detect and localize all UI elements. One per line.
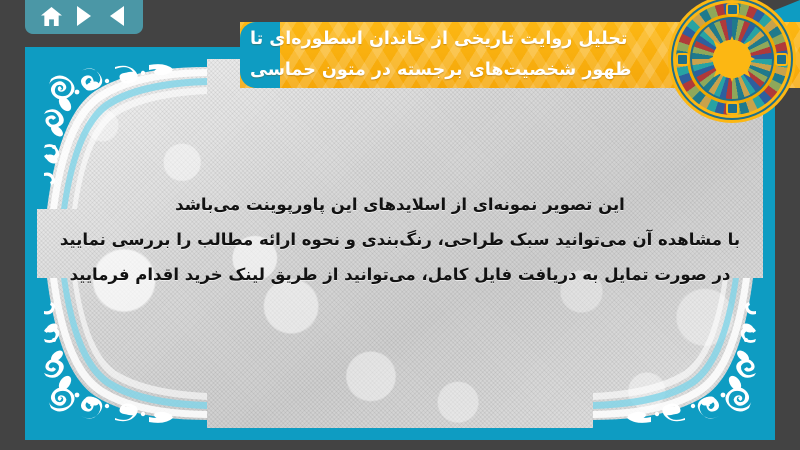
arrow-left-icon <box>110 6 124 26</box>
title-banner-cap <box>240 22 280 88</box>
back-button[interactable] <box>104 4 130 28</box>
slide-viewer-page: تحلیل روایت تاریخی از خاندان اسطوره‌ای ت… <box>0 0 800 450</box>
slide-frame: این تصویر نمونه‌ای از اسلایدهای این پاور… <box>25 47 775 440</box>
home-icon <box>40 6 63 27</box>
slide-canvas: این تصویر نمونه‌ای از اسلایدهای این پاور… <box>37 59 763 428</box>
persian-medallion-icon <box>676 3 788 115</box>
slide-body-line-1: این تصویر نمونه‌ای از اسلایدهای این پاور… <box>37 187 763 222</box>
home-button[interactable] <box>38 4 64 28</box>
slide-body-line-3: در صورت تمایل به دریافت فایل کامل، می‌تو… <box>37 257 763 292</box>
navigation-bar[interactable] <box>25 0 143 34</box>
slide-body-line-2: با مشاهده آن می‌توانید سبک طراحی، رنگ‌بن… <box>37 222 763 257</box>
arabesque-corner-bottom-left-icon <box>37 278 207 428</box>
arabesque-corner-bottom-right-icon <box>593 278 763 428</box>
arrow-right-icon <box>77 6 91 26</box>
forward-button[interactable] <box>71 4 97 28</box>
slide-body-text: این تصویر نمونه‌ای از اسلایدهای این پاور… <box>37 187 763 292</box>
